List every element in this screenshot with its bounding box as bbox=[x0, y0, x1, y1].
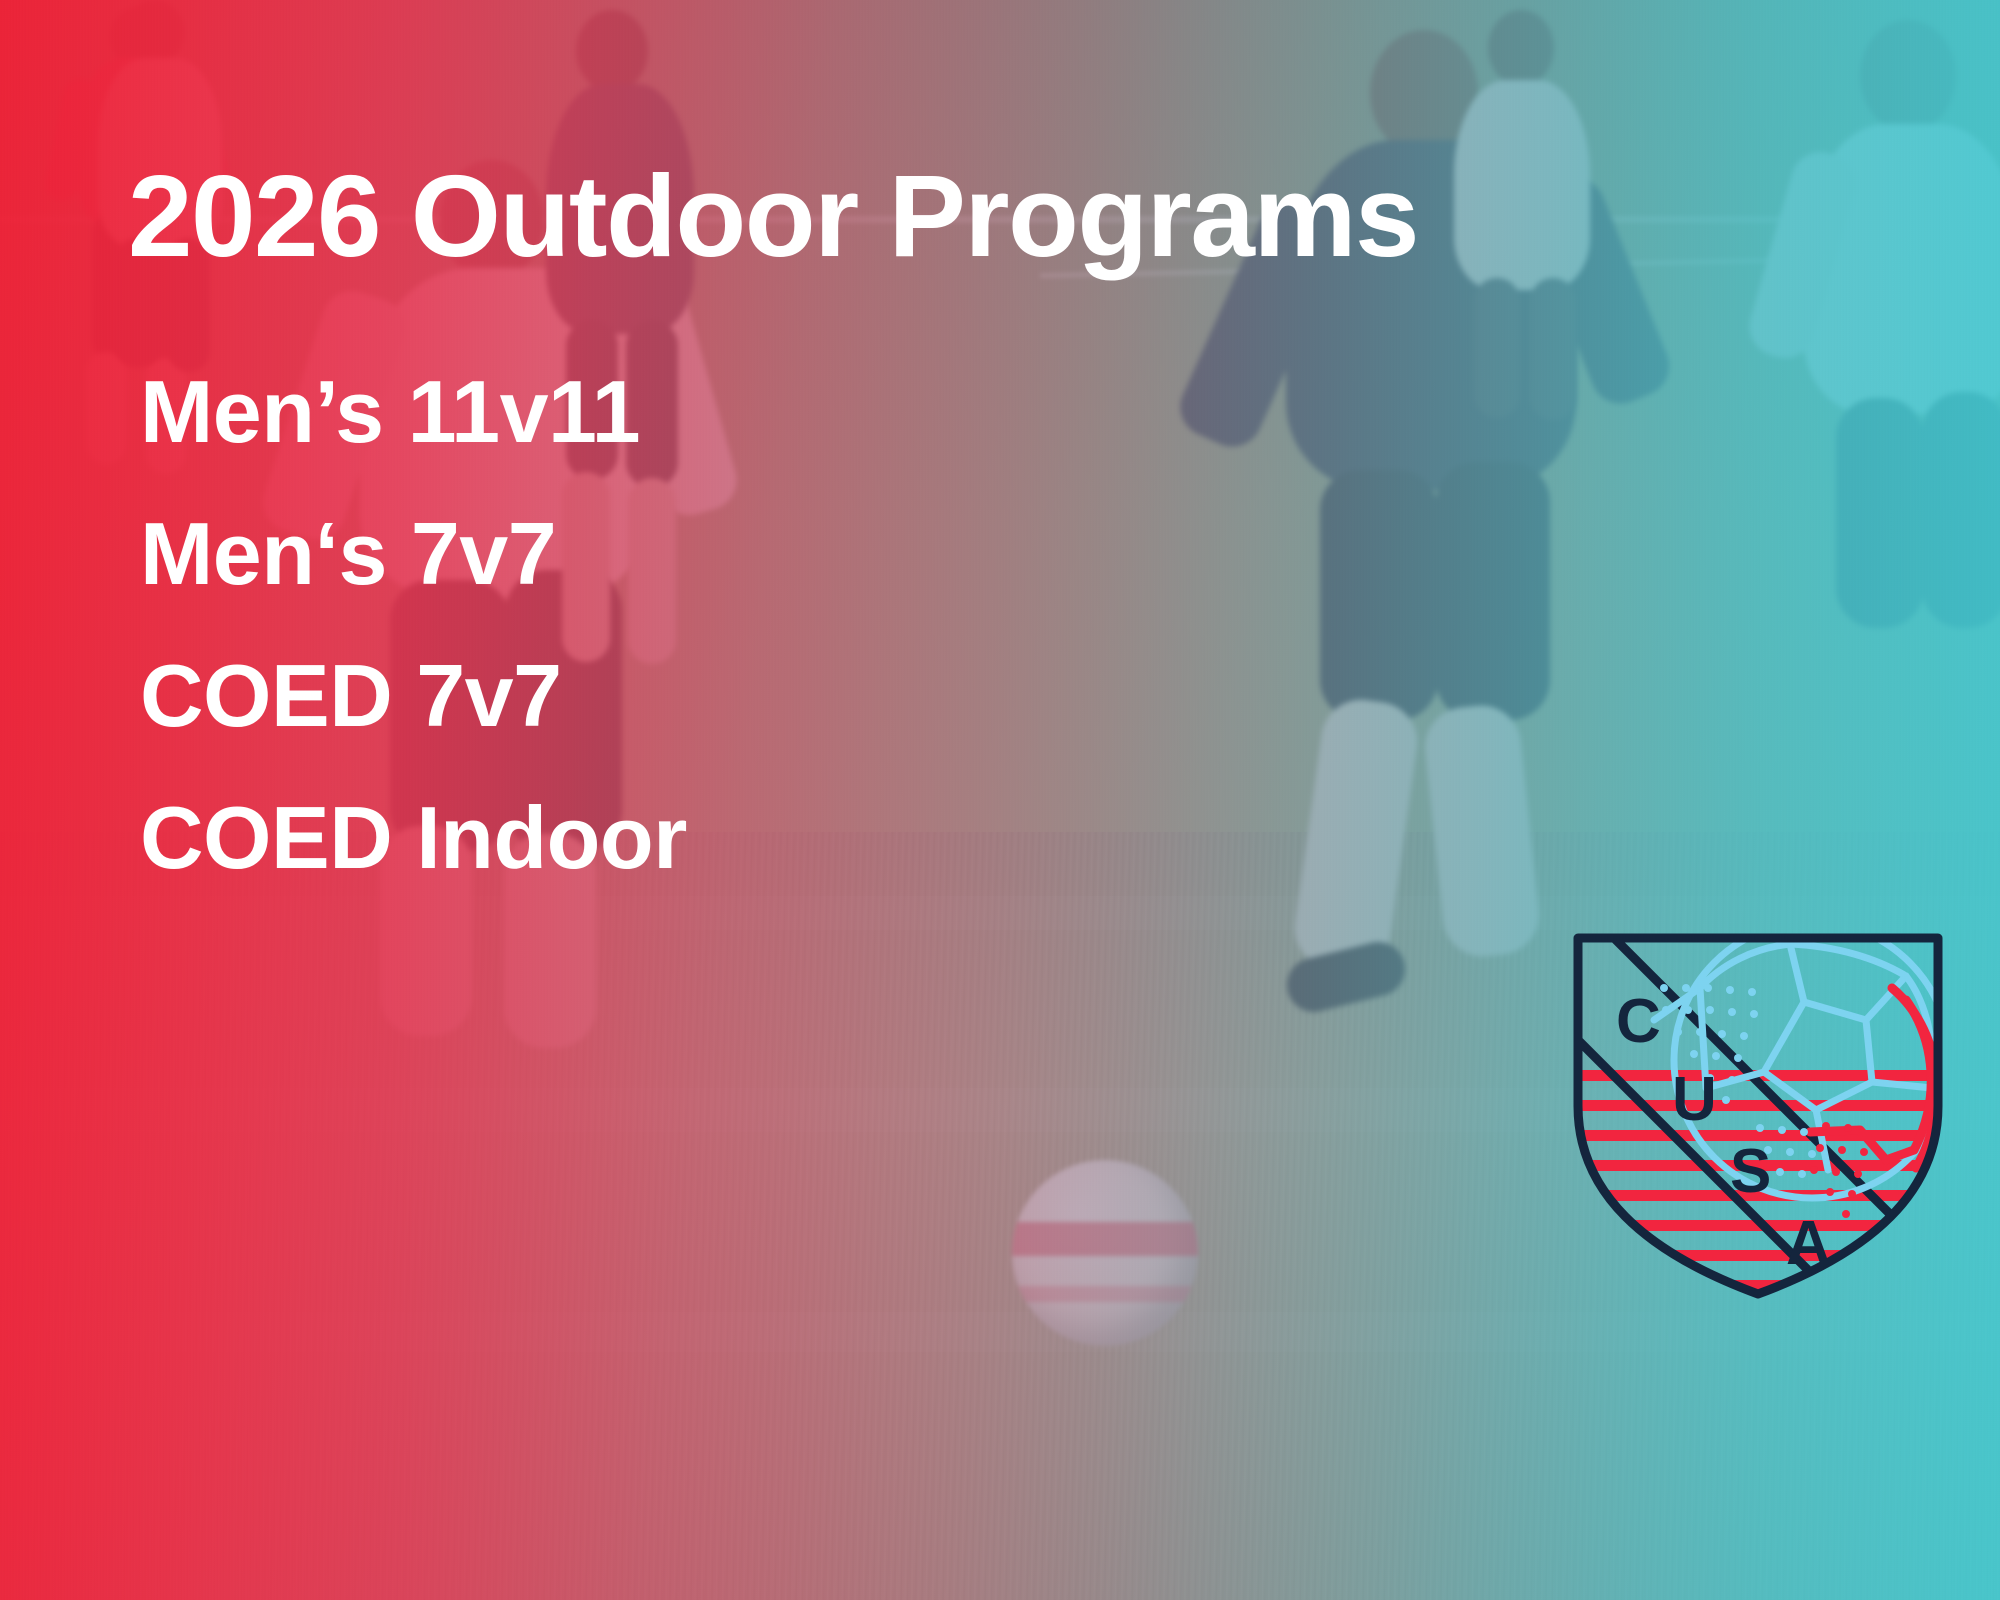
logo-letter-s: S bbox=[1730, 1137, 1771, 1206]
program-item-mens-7v7: Men‘s 7v7 bbox=[140, 510, 687, 598]
cusa-shield-icon: C U S A bbox=[1554, 892, 1962, 1308]
logo-letter-c: C bbox=[1616, 987, 1661, 1056]
poster-title: 2026 Outdoor Programs bbox=[128, 156, 1418, 278]
cusa-logo: C U S A bbox=[1554, 892, 1962, 1308]
logo-letter-u: U bbox=[1672, 1065, 1717, 1134]
program-item-mens-11v11: Men’s 11v11 bbox=[140, 368, 687, 456]
poster-content: 2026 Outdoor Programs Men’s 11v11 Men‘s … bbox=[0, 0, 2000, 1600]
logo-letter-a: A bbox=[1786, 1209, 1831, 1278]
program-item-coed-7v7: COED 7v7 bbox=[140, 652, 687, 740]
program-list: Men’s 11v11 Men‘s 7v7 COED 7v7 COED Indo… bbox=[140, 368, 687, 882]
program-item-coed-indoor: COED Indoor bbox=[140, 794, 687, 882]
poster-canvas: 2026 Outdoor Programs Men’s 11v11 Men‘s … bbox=[0, 0, 2000, 1600]
